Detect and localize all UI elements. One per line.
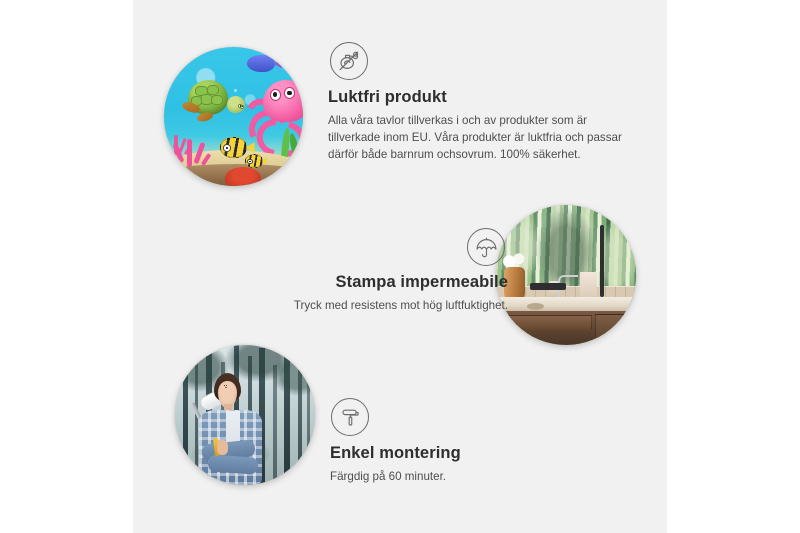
fish-eye: [247, 159, 253, 164]
medallion-forest-image: [175, 345, 315, 485]
feature-description: Tryck med resistens mot hög luftfuktighe…: [218, 297, 508, 314]
feature-title: Enkel montering: [330, 444, 600, 464]
vanity-drawer: [508, 315, 592, 330]
octopus-head: [263, 80, 303, 121]
sea-turtle-figure: [181, 78, 242, 125]
medallion-ocean-image: [164, 47, 303, 186]
feature-block-waterproof: Stampa impermeabile Tryck med resistens …: [218, 228, 508, 314]
infographic-stage: Luktfri produkt Alla våra tavlor tillver…: [0, 0, 800, 533]
wooden-vanity-cabinet: [499, 311, 636, 345]
soap-dish: [527, 303, 544, 310]
feature-title: Luktfri produkt: [328, 88, 623, 108]
feature-block-odourless: Luktfri produkt Alla våra tavlor tillver…: [328, 42, 623, 163]
drawer-handle: [530, 283, 566, 290]
feature-description: Alla våra tavlor tillverkas i och av pro…: [328, 112, 623, 163]
fish-body: [245, 154, 263, 168]
smile: [225, 387, 227, 388]
feature-block-mounting: Enkel montering Färgdig på 60 minuter.: [330, 398, 600, 485]
blue-fish-icon: [247, 55, 275, 72]
content-panel: Luktfri produkt Alla våra tavlor tillver…: [133, 0, 667, 533]
medallion-bathroom-image: [496, 205, 636, 345]
forest-photo: [175, 345, 315, 485]
feature-description: Färgdig på 60 minuter.: [330, 468, 600, 485]
eye: [224, 385, 225, 386]
folded-arm: [207, 454, 258, 474]
feature-title: Stampa impermeabile: [218, 273, 508, 293]
no-odour-spray-bottle-icon: [330, 42, 368, 80]
vanity-door: [595, 314, 636, 344]
fish-eye: [223, 144, 231, 151]
octopus-eye: [284, 87, 295, 99]
striped-fish: [220, 137, 248, 158]
hand: [217, 440, 228, 455]
fish-body: [220, 137, 248, 158]
ocean-illustration: [164, 47, 303, 186]
pink-coral: [164, 128, 192, 156]
eye: [226, 385, 227, 386]
paint-roller-icon: [331, 398, 369, 436]
octopus-eye: [270, 89, 281, 101]
crab-figure: [225, 167, 261, 186]
striped-fish: [245, 154, 263, 168]
stone-countertop: [496, 297, 636, 311]
bathroom-photo: [496, 205, 636, 345]
door-handle: [600, 225, 604, 298]
rolled-towel: [580, 272, 597, 300]
umbrella-icon: [467, 228, 505, 266]
painter-woman-figure: [197, 373, 273, 485]
turtle-eye: [238, 104, 242, 108]
